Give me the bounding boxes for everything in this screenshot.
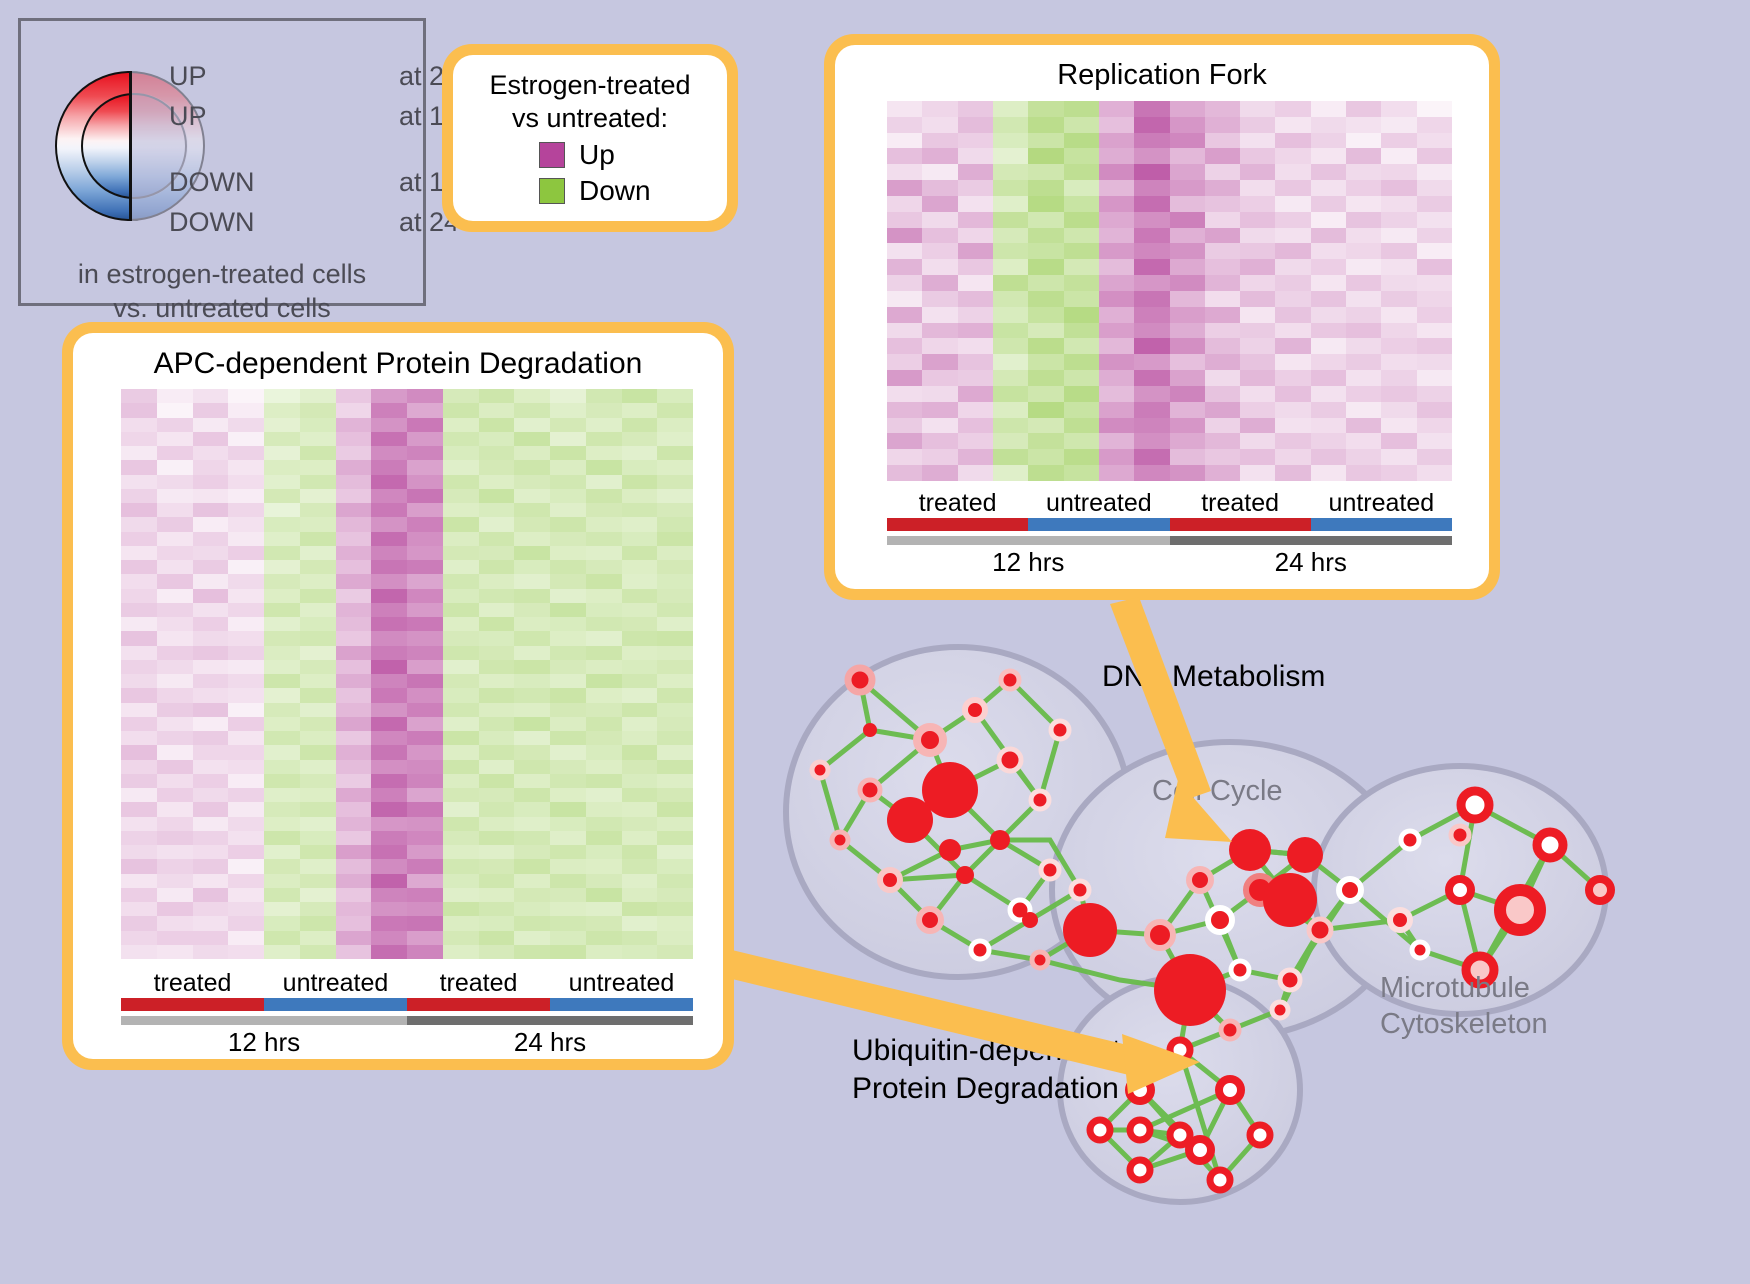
heatmap-cell — [443, 931, 479, 945]
heatmap-cell — [1417, 101, 1452, 117]
heatmap-cell — [550, 788, 586, 802]
heatmap-cell — [1028, 386, 1063, 402]
heatmap-cell — [1134, 402, 1169, 418]
heatmap-cell — [1028, 323, 1063, 339]
heatmap-cell — [228, 418, 264, 432]
condition-bar-segment — [121, 998, 264, 1011]
heatmap-cell — [121, 774, 157, 788]
heatmap-cell — [371, 745, 407, 759]
heatmap-cell — [1028, 354, 1063, 370]
heatmap-cell — [1099, 180, 1134, 196]
heatmap-cell — [193, 546, 229, 560]
heatmap-cell — [1028, 243, 1063, 259]
heatmap-cell — [1099, 259, 1134, 275]
heatmap-cell — [514, 902, 550, 916]
heatmap-cell — [1134, 243, 1169, 259]
heatmap-cell — [1099, 338, 1134, 354]
heatmap-cell — [228, 532, 264, 546]
heatmap-cell — [157, 446, 193, 460]
heatmap-cell — [193, 802, 229, 816]
heatmap-cell — [887, 196, 922, 212]
heatmap-cell — [550, 859, 586, 873]
heatmap-cell — [1275, 354, 1310, 370]
heatmap-cell — [1381, 402, 1416, 418]
heatmap-cell — [958, 212, 993, 228]
heatmap-cell — [550, 703, 586, 717]
heatmap-cell — [371, 389, 407, 403]
heatmap-cell — [586, 817, 622, 831]
timepoint-label: 12 hrs — [887, 547, 1170, 578]
heatmap-cell — [1311, 386, 1346, 402]
heatmap-cell — [264, 745, 300, 759]
heatmap-cell — [336, 745, 372, 759]
heatmap-cell — [479, 731, 515, 745]
heatmap-cell — [228, 817, 264, 831]
heatmap-cell — [958, 275, 993, 291]
heatmap-cell — [1417, 228, 1452, 244]
heatmap-cell — [121, 916, 157, 930]
heatmap-cell — [336, 646, 372, 660]
heatmap-cell — [1381, 148, 1416, 164]
heatmap-cell — [1346, 386, 1381, 402]
heatmap-cell — [300, 446, 336, 460]
heatmap-cell — [371, 532, 407, 546]
heatmap-cell — [336, 418, 372, 432]
heatmap-cell — [479, 489, 515, 503]
heatmap-cell — [264, 817, 300, 831]
heatmap-cell — [1028, 402, 1063, 418]
heatmap-cell — [1099, 117, 1134, 133]
heatmap-cell — [1417, 148, 1452, 164]
heatmap-cell — [657, 418, 693, 432]
heatmap-cell — [121, 745, 157, 759]
heatmap-cell — [264, 703, 300, 717]
heatmap-cell — [993, 275, 1028, 291]
heatmap-cell — [193, 418, 229, 432]
heatmap-cell — [157, 888, 193, 902]
heatmap-cell — [479, 503, 515, 517]
heatmap-cell — [922, 370, 957, 386]
heatmap-cell — [157, 432, 193, 446]
heatmap-cell — [407, 674, 443, 688]
heatmap-cell — [193, 532, 229, 546]
heatmap-cell — [443, 617, 479, 631]
heatmap-cell — [121, 546, 157, 560]
heatmap-cell — [479, 874, 515, 888]
heatmap-cell — [1170, 196, 1205, 212]
heatmap-cell — [407, 902, 443, 916]
heatmap-cell — [657, 517, 693, 531]
heatmap-cell — [550, 817, 586, 831]
heatmap-cell — [1028, 212, 1063, 228]
heatmap-cell — [622, 703, 658, 717]
heatmap-cell — [371, 503, 407, 517]
heatmap-cell — [958, 307, 993, 323]
heatmap-cell — [922, 101, 957, 117]
heatmap-cell — [586, 745, 622, 759]
heatmap-cell — [157, 802, 193, 816]
heatmap-cell — [157, 646, 193, 660]
heatmap-cell — [1346, 418, 1381, 434]
heatmap-cell — [443, 817, 479, 831]
heatmap-cell — [993, 180, 1028, 196]
heatmap-cell — [514, 703, 550, 717]
heatmap-cell — [1275, 449, 1310, 465]
heatmap-apc-degradation — [121, 389, 693, 959]
heatmap-cell — [922, 433, 957, 449]
heatmap-cell — [514, 660, 550, 674]
heatmap-cell — [479, 717, 515, 731]
heatmap-cell — [193, 859, 229, 873]
heatmap-cell — [264, 888, 300, 902]
heatmap-cell — [193, 888, 229, 902]
heatmap-cell — [121, 788, 157, 802]
heatmap-cell — [958, 402, 993, 418]
heatmap-cell — [121, 945, 157, 959]
heatmap-cell — [300, 546, 336, 560]
heatmap-cell — [193, 931, 229, 945]
heatmap-cell — [264, 931, 300, 945]
heatmap-cell — [887, 386, 922, 402]
heatmap-cell — [193, 517, 229, 531]
heatmap-cell — [371, 589, 407, 603]
heatmap-cell — [1311, 101, 1346, 117]
heatmap-cell — [1205, 418, 1240, 434]
heatmap-cell — [514, 489, 550, 503]
heatmap-cell — [336, 874, 372, 888]
heatmap-cell — [479, 446, 515, 460]
heatmap-cell — [550, 574, 586, 588]
heatmap-cell — [622, 688, 658, 702]
heatmap-cell — [121, 760, 157, 774]
heatmap-cell — [657, 845, 693, 859]
heatmap-cell — [1099, 196, 1134, 212]
heatmap-cell — [371, 603, 407, 617]
heatmap-cell — [1099, 291, 1134, 307]
heatmap-cell — [1417, 259, 1452, 275]
heatmap-cell — [371, 717, 407, 731]
heatmap-cell — [1381, 386, 1416, 402]
heatmap-cell — [993, 354, 1028, 370]
heatmap-cell — [1275, 148, 1310, 164]
heatmap-cell — [228, 760, 264, 774]
heatmap-cell — [1240, 117, 1275, 133]
heatmap-cell — [1205, 164, 1240, 180]
heatmap-cell — [228, 888, 264, 902]
heatmap-cell — [550, 603, 586, 617]
heatmap-cell — [922, 196, 957, 212]
heatmap-cell — [622, 831, 658, 845]
heatmap-cell — [586, 802, 622, 816]
heatmap-cell — [407, 774, 443, 788]
heatmap-cell — [300, 660, 336, 674]
heatmap-cell — [1381, 180, 1416, 196]
heatmap-cell — [443, 460, 479, 474]
heatmap-cell — [443, 902, 479, 916]
heatmap-cell — [922, 465, 957, 481]
heatmap-cell — [443, 489, 479, 503]
heatmap-cell — [958, 465, 993, 481]
heatmap-cell — [514, 617, 550, 631]
heatmap-cell — [622, 660, 658, 674]
heatmap-cell — [443, 674, 479, 688]
heatmap-cell — [1028, 148, 1063, 164]
heatmap-cell — [550, 774, 586, 788]
heatmap-cell — [1134, 180, 1169, 196]
heatmap-cell — [1346, 433, 1381, 449]
heatmap-cell — [586, 574, 622, 588]
heatmap-cell — [514, 475, 550, 489]
heatmap-cell — [1240, 180, 1275, 196]
heatmap-cell — [1205, 101, 1240, 117]
heatmap-cell — [586, 660, 622, 674]
heatmap-cell — [443, 717, 479, 731]
heatmap-cell — [228, 774, 264, 788]
heatmap-cell — [922, 228, 957, 244]
heatmap-cell — [228, 617, 264, 631]
heatmap-cell — [657, 688, 693, 702]
heatmap-cell — [622, 432, 658, 446]
heatmap-cell — [622, 560, 658, 574]
heatmap-cell — [1381, 275, 1416, 291]
heatmap-cell — [514, 646, 550, 660]
heatmap-cell — [407, 731, 443, 745]
heatmap-cell — [193, 817, 229, 831]
heatmap-cell — [586, 646, 622, 660]
heatmap-cell — [300, 560, 336, 574]
heatmap-cell — [157, 517, 193, 531]
heatmap-cell — [550, 916, 586, 930]
heatmap-cell — [1134, 338, 1169, 354]
heatmap-cell — [479, 574, 515, 588]
heatmap-cell — [336, 546, 372, 560]
heatmap-cell — [958, 386, 993, 402]
heatmap-cell — [371, 902, 407, 916]
cluster-label-dna-metabolism: DNA Metabolism — [1102, 660, 1325, 694]
heatmap-cell — [157, 717, 193, 731]
heatmap-cell — [958, 228, 993, 244]
heatmap-cell — [993, 386, 1028, 402]
heatmap-cell — [550, 717, 586, 731]
heatmap-cell — [193, 916, 229, 930]
condition-bar-segment — [264, 998, 407, 1011]
heatmap-cell — [622, 788, 658, 802]
heatmap-cell — [336, 859, 372, 873]
heatmap-cell — [1134, 275, 1169, 291]
heatmap-cell — [228, 859, 264, 873]
heatmap-cell — [1064, 275, 1099, 291]
heatmap-cell — [1240, 196, 1275, 212]
down-label: Down — [579, 175, 651, 207]
heatmap-cell — [1134, 418, 1169, 434]
heatmap-cell — [371, 831, 407, 845]
heatmap-cell — [264, 674, 300, 688]
heatmap-cell — [371, 774, 407, 788]
heatmap-cell — [514, 546, 550, 560]
heatmap-cell — [657, 446, 693, 460]
heatmap-cell — [264, 945, 300, 959]
heatmap-cell — [1275, 101, 1310, 117]
heatmap-cell — [121, 888, 157, 902]
heatmap-cell — [121, 389, 157, 403]
heatmap-cell — [371, 660, 407, 674]
heatmap-cell — [622, 475, 658, 489]
heatmap-cell — [121, 674, 157, 688]
heatmap-cell — [887, 433, 922, 449]
heatmap-cell — [264, 574, 300, 588]
heatmap-cell — [887, 338, 922, 354]
down-color-swatch — [539, 178, 565, 204]
heatmap-cell — [958, 180, 993, 196]
heatmap-cell — [586, 517, 622, 531]
heatmap-cell — [514, 845, 550, 859]
heatmap-cell — [1064, 243, 1099, 259]
heatmap-cell — [443, 788, 479, 802]
heatmap-cell — [550, 931, 586, 945]
heatmap-cell — [1275, 307, 1310, 323]
heatmap-cell — [1346, 212, 1381, 228]
heatmap-cell — [157, 817, 193, 831]
heatmap-cell — [193, 389, 229, 403]
heatmap-cell — [1311, 196, 1346, 212]
heatmap-cell — [264, 646, 300, 660]
heatmap-cell — [1170, 101, 1205, 117]
heatmap-cell — [443, 546, 479, 560]
heatmap-cell — [157, 389, 193, 403]
heatmap-cell — [622, 403, 658, 417]
heatmap-cell — [300, 731, 336, 745]
heatmap-cell — [228, 460, 264, 474]
heatmap-cell — [228, 874, 264, 888]
heatmap-cell — [550, 418, 586, 432]
heatmap-cell — [371, 460, 407, 474]
heatmap-cell — [1311, 180, 1346, 196]
heatmap-cell — [550, 489, 586, 503]
heatmap-cell — [193, 646, 229, 660]
heatmap-cell — [1240, 133, 1275, 149]
heatmap-cell — [586, 703, 622, 717]
heatmap-cell — [1417, 180, 1452, 196]
heatmap-cell — [922, 291, 957, 307]
heatmap-cell — [407, 945, 443, 959]
heatmap-cell — [336, 945, 372, 959]
heatmap-cell — [586, 460, 622, 474]
heatmap-cell — [157, 418, 193, 432]
heatmap-cell — [1346, 180, 1381, 196]
heatmap-cell — [657, 888, 693, 902]
heatmap-cell — [1064, 449, 1099, 465]
heatmap-cell — [1099, 386, 1134, 402]
heatmap-cell — [336, 403, 372, 417]
heatmap-cell — [1417, 370, 1452, 386]
heatmap-cell — [300, 845, 336, 859]
heatmap-cell — [1381, 323, 1416, 339]
legend-key: DOWN — [169, 167, 254, 198]
heatmap-cell — [657, 717, 693, 731]
heatmap-cell — [1311, 307, 1346, 323]
heatmap-cell — [1381, 433, 1416, 449]
heatmap-cell — [264, 403, 300, 417]
heatmap-cell — [336, 446, 372, 460]
heatmap-cell — [586, 674, 622, 688]
heatmap-cell — [1134, 465, 1169, 481]
heatmap-cell — [336, 916, 372, 930]
heatmap-cell — [1134, 354, 1169, 370]
heatmap-cell — [371, 888, 407, 902]
heatmap-cell — [657, 546, 693, 560]
heatmap-cell — [300, 688, 336, 702]
heatmap-cell — [407, 532, 443, 546]
heatmap-cell — [1170, 212, 1205, 228]
heatmap-cell — [479, 688, 515, 702]
heatmap-cell — [121, 631, 157, 645]
heatmap-cell — [264, 560, 300, 574]
heatmap-cell — [993, 433, 1028, 449]
heatmap-cell — [514, 589, 550, 603]
heatmap-cell — [1240, 465, 1275, 481]
heatmap-cell — [407, 503, 443, 517]
heatmap-cell — [1064, 180, 1099, 196]
heatmap-cell — [1134, 133, 1169, 149]
up-color-swatch — [539, 142, 565, 168]
heatmap-cell — [1205, 259, 1240, 275]
heatmap-cell — [993, 101, 1028, 117]
heatmap-cell — [407, 403, 443, 417]
heatmap-cell — [622, 674, 658, 688]
heatmap-cell — [1417, 196, 1452, 212]
heatmap-cell — [228, 703, 264, 717]
heatmap-cell — [264, 902, 300, 916]
heatmap-cell — [1346, 449, 1381, 465]
heatmap-cell — [407, 688, 443, 702]
heatmap-cell — [657, 503, 693, 517]
heatmap-cell — [300, 389, 336, 403]
heatmap-cell — [300, 475, 336, 489]
heatmap-cell — [958, 433, 993, 449]
heatmap-cell — [479, 745, 515, 759]
heatmap-cell — [157, 460, 193, 474]
heatmap-cell — [336, 774, 372, 788]
heatmap-cell — [993, 465, 1028, 481]
heatmap-cell — [1170, 402, 1205, 418]
heatmap-cell — [1381, 101, 1416, 117]
heatmap-cell — [993, 323, 1028, 339]
heatmap-cell — [371, 931, 407, 945]
heatmap-cell — [1134, 164, 1169, 180]
heatmap-cell — [1275, 228, 1310, 244]
timepoint-bar-segment — [887, 536, 1170, 545]
heatmap-cell — [300, 631, 336, 645]
heatmap-cell — [1170, 117, 1205, 133]
heatmap-cell — [371, 845, 407, 859]
heatmap-cell — [479, 617, 515, 631]
heatmap-cell — [1275, 180, 1310, 196]
heatmap-cell — [622, 503, 658, 517]
heatmap-cell — [993, 418, 1028, 434]
heatmap-cell — [1064, 433, 1099, 449]
heatmap-cell — [1028, 164, 1063, 180]
heatmap-cell — [407, 703, 443, 717]
heatmap-cell — [1028, 370, 1063, 386]
heatmap-cell — [1240, 243, 1275, 259]
heatmap-cell — [622, 574, 658, 588]
heatmap-cell — [1417, 465, 1452, 481]
heatmap-cell — [407, 802, 443, 816]
heatmap-cell — [1311, 117, 1346, 133]
heatmap-cell — [1275, 275, 1310, 291]
ring-vertical-divider — [129, 71, 132, 221]
heatmap-cell — [1346, 465, 1381, 481]
